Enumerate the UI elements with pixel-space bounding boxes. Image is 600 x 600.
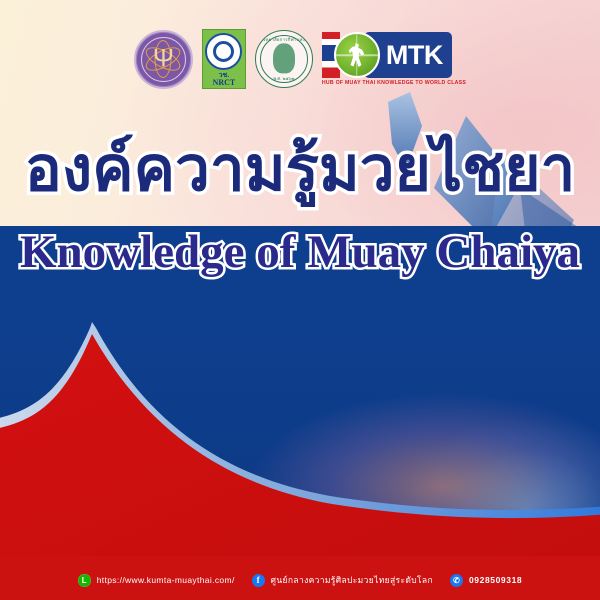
gear-icon [205, 33, 242, 70]
footer-item-phone[interactable]: ✆ 0928509318 [450, 574, 522, 587]
line-icon: L [78, 574, 91, 587]
nrct-abbr-label: NRCT [213, 79, 236, 87]
trident-icon: Ψ [153, 47, 174, 72]
mtk-logo: MTK HUB OF MUAY THAI KNOWLEDGE TO WORLD … [322, 32, 466, 86]
footer-item-website[interactable]: L https://www.kumta-muaythai.com/ [78, 574, 235, 587]
footer-website-text: https://www.kumta-muaythai.com/ [97, 575, 235, 585]
mtk-wordmark: MTK [386, 42, 443, 69]
hero-title-thai: องค์ความรู้มวยไชยา [25, 139, 576, 201]
line-glyph: L [78, 574, 91, 587]
presentation-slide: Ψ วช. NRCT มหาวิทยาลัยการกีฬาแห่งชาติ พ.… [0, 0, 600, 600]
atom-seal-logo: Ψ [134, 30, 193, 89]
hero-title-english: Knowledge of Muay Chaiya [20, 228, 580, 277]
seal-figure-icon [273, 43, 295, 73]
globe-icon [334, 32, 380, 78]
seal-arc-bottom-text: พ.ศ. ๒๕๖๒ [273, 75, 294, 82]
seal-arc-top-text: มหาวิทยาลัยการกีฬาแห่งชาติ [255, 36, 313, 43]
footer-bar: L https://www.kumta-muaythai.com/ f ศูนย… [0, 556, 600, 600]
nrct-logo: วช. NRCT [202, 29, 246, 89]
fighter-silhouette-icon [349, 43, 365, 67]
facebook-icon: f [252, 574, 265, 587]
university-seal-logo: มหาวิทยาลัยการกีฬาแห่งชาติ พ.ศ. ๒๕๖๒ [255, 30, 313, 88]
mtk-tagline: HUB OF MUAY THAI KNOWLEDGE TO WORLD CLAS… [322, 80, 466, 86]
footer-contact-row: L https://www.kumta-muaythai.com/ f ศูนย… [0, 556, 600, 600]
footer-facebook-text: ศูนย์กลางความรู้ศิลปะมวยไทยสู่ระดับโลก [271, 573, 433, 587]
phone-icon: ✆ [450, 574, 463, 587]
stage-background [0, 300, 600, 600]
mountain-wave-graphic [0, 300, 600, 600]
footer-phone-text: 0928509318 [469, 575, 522, 585]
partner-logo-row: Ψ วช. NRCT มหาวิทยาลัยการกีฬาแห่งชาติ พ.… [0, 28, 600, 90]
footer-item-facebook[interactable]: f ศูนย์กลางความรู้ศิลปะมวยไทยสู่ระดับโลก [252, 573, 433, 587]
